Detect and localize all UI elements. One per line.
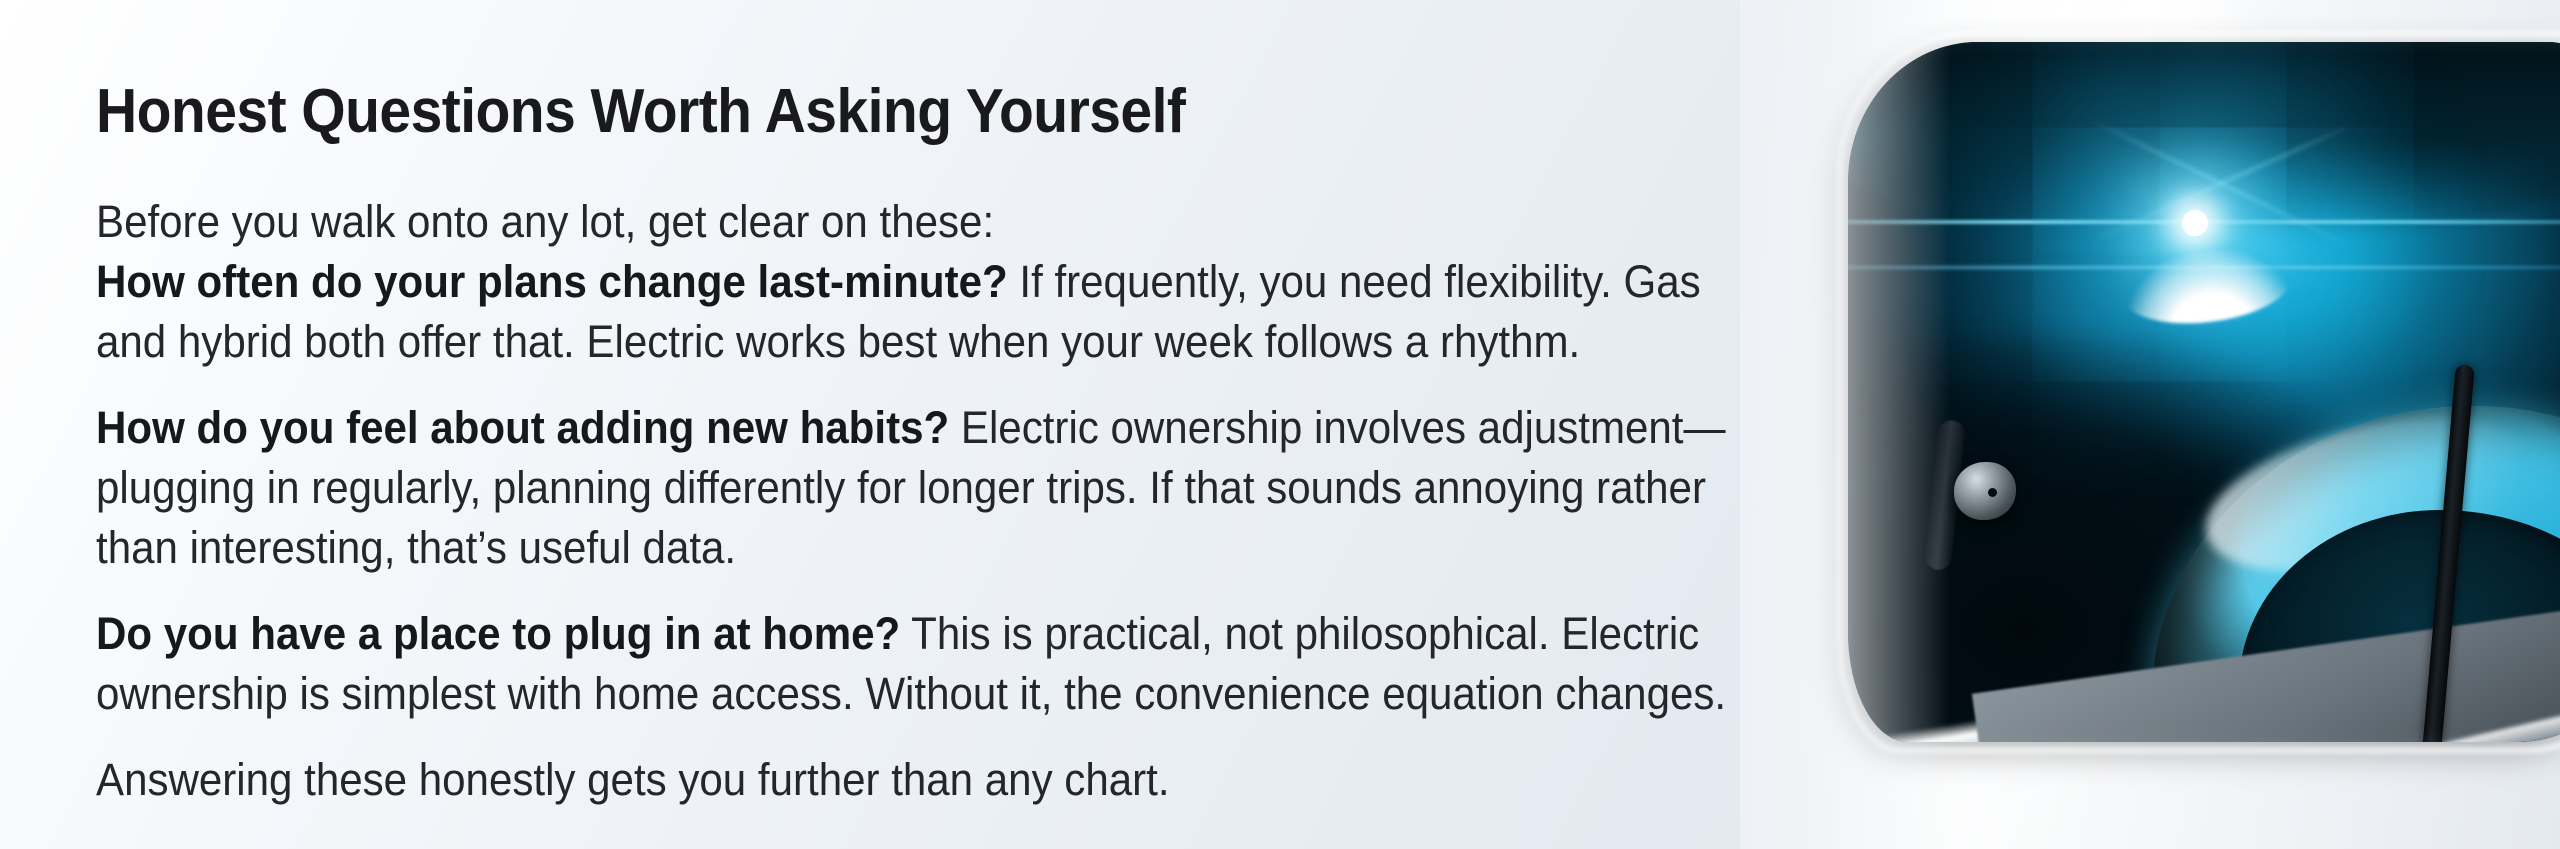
infographic-panel: Honest Questions Worth Asking Yourself B…	[0, 0, 2560, 849]
text-column: Honest Questions Worth Asking Yourself B…	[96, 0, 1886, 849]
charge-port-recess	[1848, 42, 2560, 742]
closing-text: Answering these honestly gets you furthe…	[96, 754, 1170, 805]
question-3-prompt: Do you have a place to plug in at home?	[96, 608, 900, 659]
port-latch-pin	[1954, 462, 2016, 520]
page-title: Honest Questions Worth Asking Yourself	[96, 76, 1185, 147]
question-2-prompt: How do you feel about adding new habits?	[96, 402, 949, 453]
intro-paragraph: Before you walk onto any lot, get clear …	[96, 192, 1746, 372]
question-1-prompt: How often do your plans change last-minu…	[96, 256, 1008, 307]
recess-upper-lip	[1848, 42, 2560, 238]
crescent-highlight	[2118, 242, 2295, 332]
question-2-paragraph: How do you feel about adding new habits?…	[96, 398, 1746, 578]
body-copy: Before you walk onto any lot, get clear …	[96, 192, 1746, 810]
intro-text: Before you walk onto any lot, get clear …	[96, 196, 994, 247]
closing-paragraph: Answering these honestly gets you furthe…	[96, 750, 1746, 810]
question-3-paragraph: Do you have a place to plug in at home? …	[96, 604, 1746, 724]
